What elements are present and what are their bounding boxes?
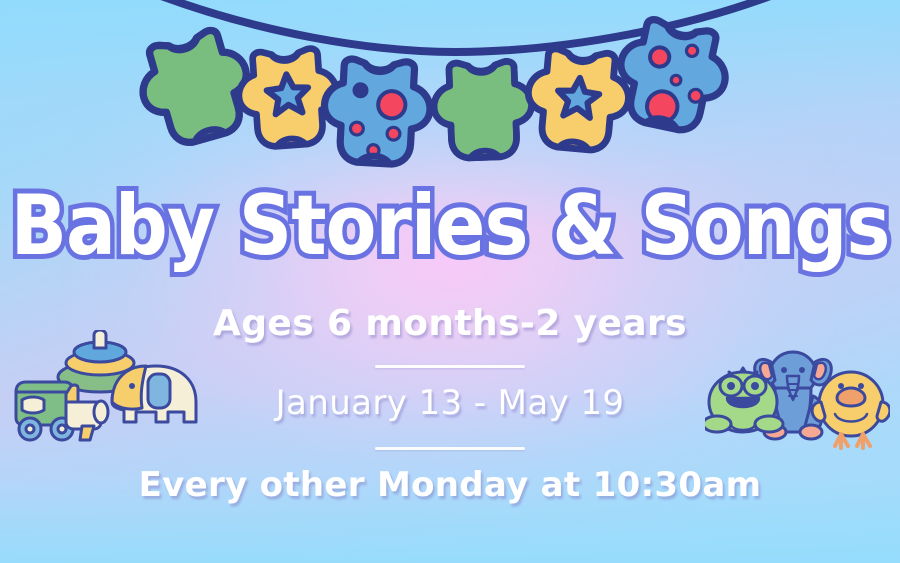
divider-bottom: [375, 447, 525, 450]
page-title: Baby Stories & Songs: [0, 189, 900, 263]
subtitle-date-range: January 13 - May 19: [0, 383, 900, 423]
subtitle-schedule: Every other Monday at 10:30am: [0, 465, 900, 505]
poster-canvas: Baby Stories & Songs Ages 6 months-2 yea…: [0, 0, 900, 563]
page-title-text: Baby Stories & Songs: [11, 185, 890, 268]
subtitle-age-range: Ages 6 months-2 years: [0, 303, 900, 344]
divider-top: [375, 365, 525, 368]
